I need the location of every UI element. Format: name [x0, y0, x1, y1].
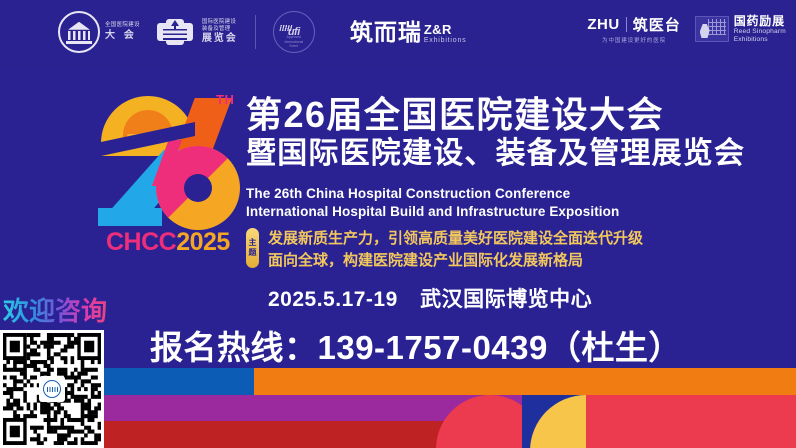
chcc-conference-logo[interactable]: 全国医院建设 大 会	[58, 11, 140, 53]
chcc-conference-logo-title: 大 会	[105, 31, 140, 42]
theme-text-line2: 面向全球，构建医院建设产业国际化发展新格局	[268, 250, 643, 272]
qr-code[interactable]	[0, 330, 104, 448]
zhu-logo-row: ZHU 筑医台	[587, 14, 680, 35]
ufi-sublabel: Approved International Event	[274, 35, 314, 48]
ufi-wave-mark-icon	[279, 25, 292, 31]
edition-number-logo: TH CHCC2025	[96, 88, 246, 253]
ufi-sub-line3: Event	[289, 44, 298, 48]
event-date-venue: 2025.5.17-19 武汉国际博览中心	[268, 283, 592, 313]
snowflake-cross-icon	[153, 10, 197, 54]
classical-building-in-circle-icon	[58, 11, 100, 53]
poster-root: 全国医院建设 大 会 国际医院建设 装备及管理 展览会	[0, 0, 796, 448]
exhibition-logo[interactable]: 国际医院建设 装备及管理 展览会	[153, 10, 238, 54]
event-date: 2025.5.17-19	[268, 288, 398, 311]
bottom-decoration	[0, 368, 796, 448]
chcc-wordmark: CHCC2025	[106, 228, 230, 257]
exhibition-logo-title: 展览会	[202, 33, 238, 45]
zr-logo-en-line2: Exhibitions	[424, 37, 467, 44]
ufi-approved-event-icon[interactable]: ufi Approved International Event	[273, 11, 315, 53]
top-logo-bar: 全国医院建设 大 会 国际医院建设 装备及管理 展览会	[0, 0, 796, 68]
edition-ordinal-suffix: TH	[216, 92, 234, 107]
deco-band-orange	[254, 368, 796, 395]
reed-sinopharm-text: 国药励展 Reed Sinopharm Exhibitions	[734, 14, 786, 44]
zr-exhibitions-logo[interactable]: 筑而瑞 Z&R Exhibitions	[350, 21, 467, 44]
zr-logo-en: Z&R Exhibitions	[424, 23, 467, 44]
poster-main-body: TH CHCC2025 第26届全国医院建设大会 暨国际医院建设、装备及管理展览…	[0, 68, 796, 368]
logo-shape-inner-hole	[184, 174, 212, 202]
poster-title-english-line1: The 26th China Hospital Construction Con…	[246, 186, 570, 201]
zhu-logo-divider	[626, 17, 627, 32]
registration-hotline: 报名热线：139-1757-0439（杜生）	[150, 321, 682, 369]
zhu-logo-tagline: 为中国建设更好的医院	[602, 36, 666, 44]
zhu-logo-cn: 筑医台	[633, 14, 681, 35]
exhibition-logo-text: 国际医院建设 装备及管理 展览会	[202, 19, 238, 44]
zr-logo-cn: 筑而瑞	[350, 21, 422, 44]
qr-panel-title: 欢迎咨询	[3, 296, 107, 327]
exhibition-logo-line1: 国际医院建设	[202, 19, 238, 25]
poster-title-english: The 26th China Hospital Construction Con…	[246, 185, 619, 221]
poster-title-english-line2: International Hospital Build and Infrast…	[246, 204, 619, 219]
reed-logo-en-line2: Exhibitions	[734, 36, 786, 44]
event-venue: 武汉国际博览中心	[420, 288, 592, 311]
right-logo-group: ZHU 筑医台 为中国建设更好的医院 国药励展 Reed Sinopharm E…	[587, 14, 786, 44]
theme-section: 主 题 发展新质生产力，引领高质量美好医院建设全面迭代升级 面向全球，构建医院建…	[246, 228, 643, 272]
deco-band-blue	[104, 368, 254, 395]
zhu-yi-tai-logo[interactable]: ZHU 筑医台 为中国建设更好的医院	[587, 14, 680, 44]
reed-logo-cn: 国药励展	[734, 14, 786, 28]
qr-center-emblem-icon	[39, 376, 65, 402]
chcc-conference-logo-text: 全国医院建设 大 会	[105, 23, 140, 41]
chcc-wordmark-year: 2025	[176, 228, 230, 256]
logo-divider	[255, 15, 256, 49]
theme-badge: 主 题	[246, 228, 259, 268]
zr-logo-en-line1: Z&R	[424, 23, 467, 36]
reed-logo-en-line1: Reed Sinopharm	[734, 28, 786, 36]
chcc-conference-logo-subtitle: 全国医院建设	[105, 23, 140, 29]
zhu-logo-en: ZHU	[587, 16, 619, 33]
reed-sinopharm-mark-icon	[695, 16, 729, 42]
theme-badge-char-1: 主	[249, 238, 257, 248]
theme-badge-char-2: 题	[249, 248, 257, 258]
left-logo-group: 全国医院建设 大 会 国际医院建设 装备及管理 展览会	[58, 10, 466, 54]
chcc-wordmark-letters: CHCC	[106, 228, 176, 256]
qr-consult-panel[interactable]: 欢迎咨询	[0, 294, 104, 448]
reed-sinopharm-logo[interactable]: 国药励展 Reed Sinopharm Exhibitions	[695, 14, 786, 44]
exhibition-logo-line2: 装备及管理	[202, 26, 238, 32]
poster-title-sub: 暨国际医院建设、装备及管理展览会	[246, 138, 745, 169]
logo-shape-blue-base	[98, 208, 162, 226]
theme-text-line1: 发展新质生产力，引领高质量美好医院建设全面迭代升级	[268, 228, 643, 250]
theme-text: 发展新质生产力，引领高质量美好医院建设全面迭代升级 面向全球，构建医院建设产业国…	[268, 228, 643, 272]
poster-title-main: 第26届全国医院建设大会	[246, 96, 664, 133]
